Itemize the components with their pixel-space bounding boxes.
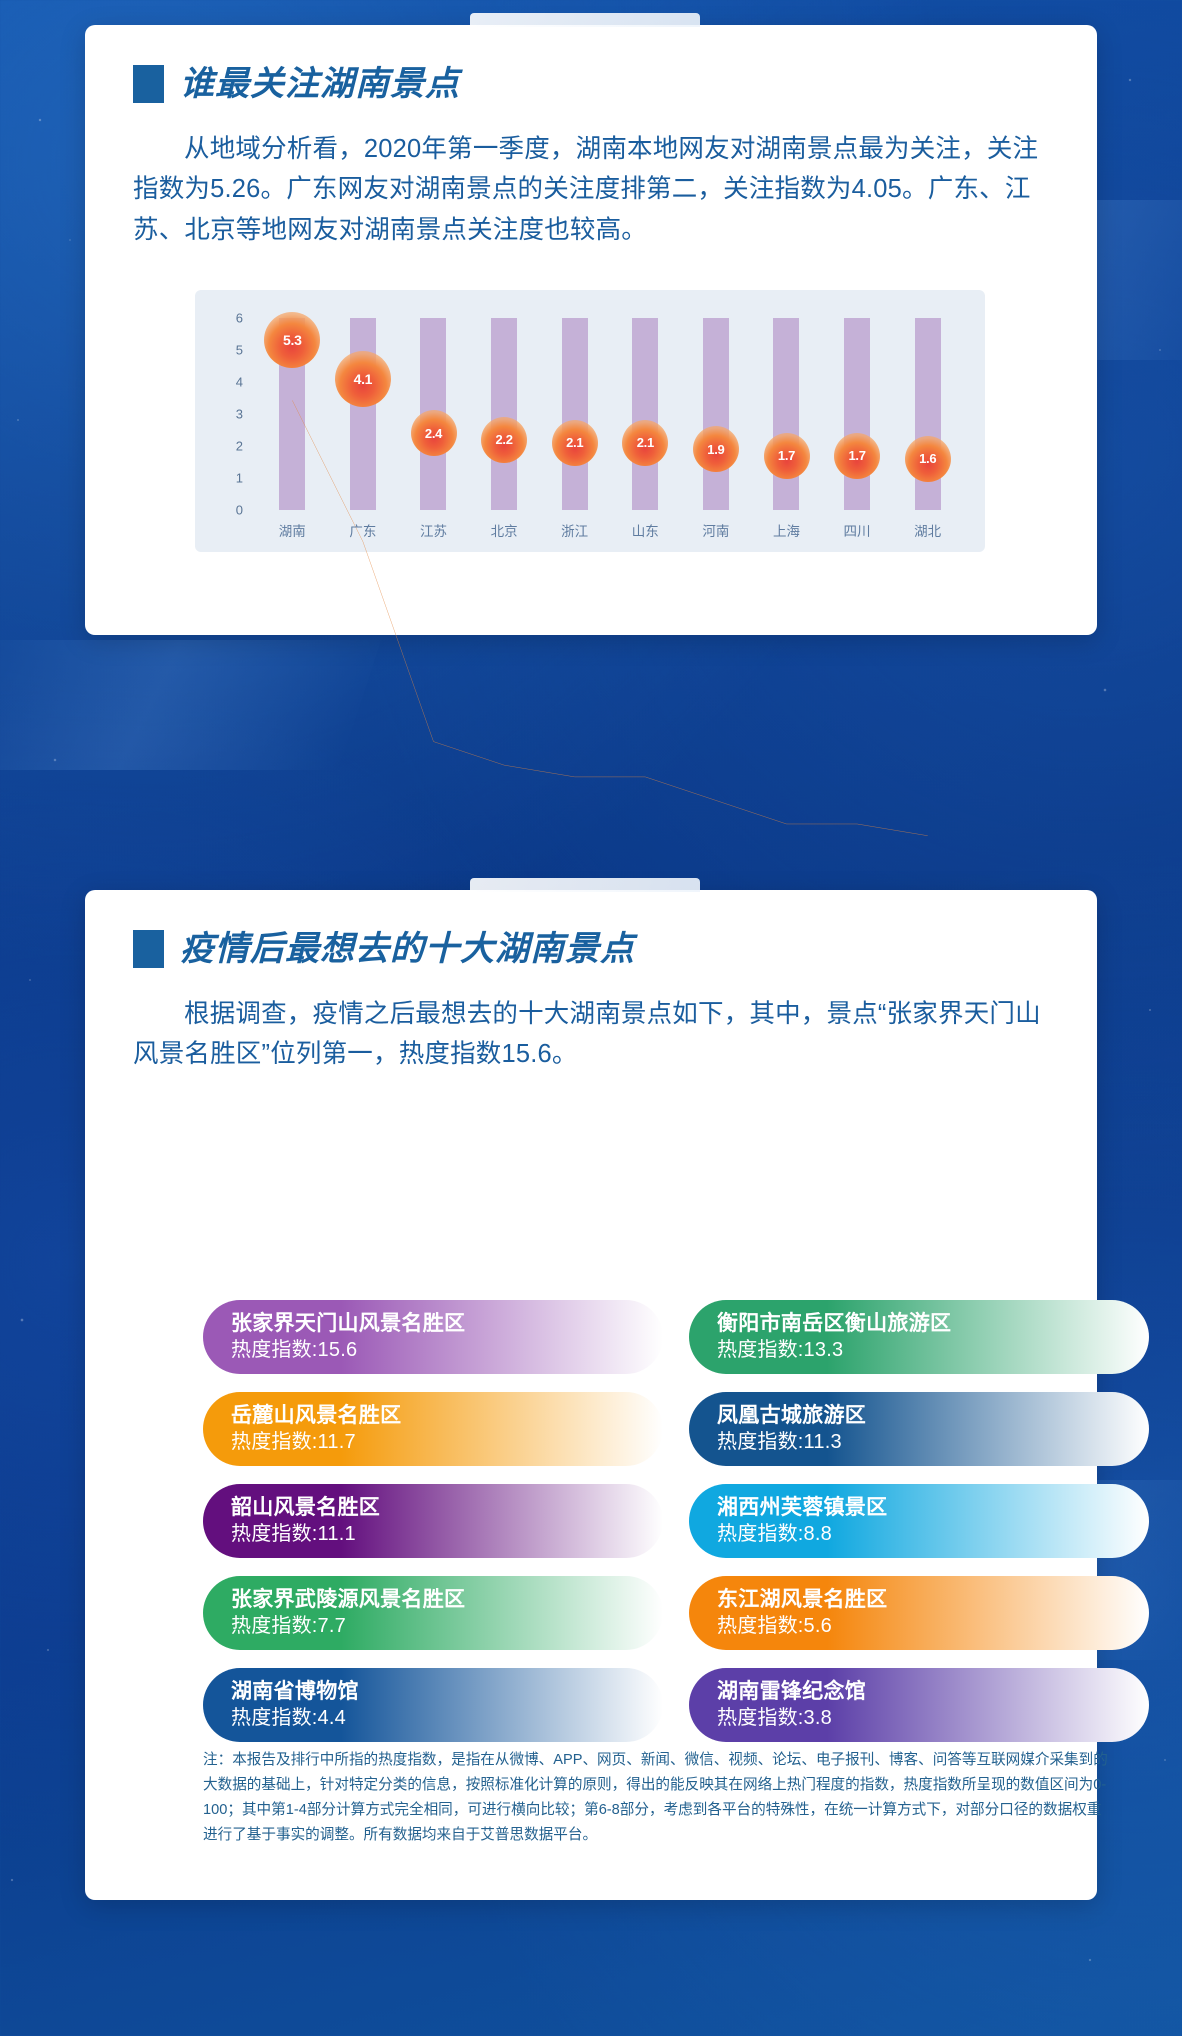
attraction-name: 岳麓山风景名胜区 [231,1403,663,1429]
attraction-name: 东江湖风景名胜区 [717,1587,1149,1613]
attraction-heat-index: 热度指数:11.3 [717,1429,1149,1456]
attraction-name: 湖南雷锋纪念馆 [717,1679,1149,1705]
section2-header: 疫情后最想去的十大湖南景点 [133,930,1097,968]
attraction-card[interactable]: 张家界天门山风景名胜区热度指数:15.6 [203,1300,663,1374]
attraction-card[interactable]: 湖南雷锋纪念馆热度指数:3.8 [689,1668,1149,1742]
attraction-name: 湖南省博物馆 [231,1679,663,1705]
chart-x-tick: 湖南 [257,520,328,540]
attraction-card[interactable]: 张家界武陵源风景名胜区热度指数:7.7 [203,1576,663,1650]
section-marker-square-icon [133,65,164,103]
attraction-name: 衡阳市南岳区衡山旅游区 [717,1311,1149,1337]
chart-x-tick: 广东 [328,520,399,540]
chart-y-tick: 6 [236,311,243,326]
section-marker-square-icon-2 [133,930,164,968]
attraction-card-list: 张家界天门山风景名胜区热度指数:15.6衡阳市南岳区衡山旅游区热度指数:13.3… [203,1300,1149,1742]
attraction-card[interactable]: 岳麓山风景名胜区热度指数:11.7 [203,1392,663,1466]
section2-body-text: 根据调查，疫情之后最想去的十大湖南景点如下，其中，景点“张家界天门山风景名胜区”… [133,994,1045,1075]
attraction-card[interactable]: 湖南省博物馆热度指数:4.4 [203,1668,663,1742]
card-notch-top-2 [470,878,700,892]
chart-y-axis-labels: 6543210 [195,318,253,510]
section1-header: 谁最关注湖南景点 [133,65,1097,103]
section-who-cares-about-hunan-attractions: 谁最关注湖南景点 从地域分析看，2020年第一季度，湖南本地网友对湖南景点最为关… [85,25,1097,635]
attraction-card[interactable]: 韶山风景名胜区热度指数:11.1 [203,1484,663,1558]
attraction-heat-index: 热度指数:3.8 [717,1705,1149,1732]
section1-body-text: 从地域分析看，2020年第一季度，湖南本地网友对湖南景点最为关注，关注指数为5.… [133,129,1045,250]
attraction-heat-index: 热度指数:8.8 [717,1521,1149,1548]
chart-x-tick: 四川 [822,520,893,540]
attraction-heat-index: 热度指数:11.7 [231,1429,663,1456]
chart-trend-line [292,400,927,835]
attraction-heat-index: 热度指数:5.6 [717,1613,1149,1640]
chart-x-tick: 北京 [469,520,540,540]
chart-y-tick: 1 [236,471,243,486]
attraction-card[interactable]: 湘西州芙蓉镇景区热度指数:8.8 [689,1484,1149,1558]
chart-y-tick: 5 [236,343,243,358]
attraction-name: 湘西州芙蓉镇景区 [717,1495,1149,1521]
section1-title: 谁最关注湖南景点 [180,67,460,101]
attraction-name: 凤凰古城旅游区 [717,1403,1149,1429]
chart-x-tick: 山东 [610,520,681,540]
chart-y-tick: 2 [236,439,243,454]
attraction-name: 张家界天门山风景名胜区 [231,1311,663,1337]
attraction-heat-index: 热度指数:15.6 [231,1337,663,1364]
attention-index-chart: 6543210 5.34.12.42.22.12.11.91.71.71.6 湖… [195,290,985,552]
chart-x-tick: 上海 [751,520,822,540]
section-top-ten-hunan-attractions: 疫情后最想去的十大湖南景点 根据调查，疫情之后最想去的十大湖南景点如下，其中，景… [85,890,1097,1900]
card-notch-top [470,13,700,27]
chart-y-tick: 4 [236,375,243,390]
footnote-text: 注：本报告及排行中所指的热度指数，是指在从微博、APP、网页、新闻、微信、视频、… [203,1748,1115,1848]
chart-x-axis-labels: 湖南广东江苏北京浙江山东河南上海四川湖北 [257,520,963,540]
chart-x-tick: 江苏 [398,520,469,540]
attraction-card[interactable]: 东江湖风景名胜区热度指数:5.6 [689,1576,1149,1650]
attraction-card[interactable]: 衡阳市南岳区衡山旅游区热度指数:13.3 [689,1300,1149,1374]
attraction-name: 韶山风景名胜区 [231,1495,663,1521]
chart-x-tick: 浙江 [539,520,610,540]
chart-y-tick: 0 [236,503,243,518]
section2-title: 疫情后最想去的十大湖南景点 [180,932,635,966]
attraction-name: 张家界武陵源风景名胜区 [231,1587,663,1613]
attraction-heat-index: 热度指数:13.3 [717,1337,1149,1364]
attraction-heat-index: 热度指数:7.7 [231,1613,663,1640]
attraction-card[interactable]: 凤凰古城旅游区热度指数:11.3 [689,1392,1149,1466]
attraction-heat-index: 热度指数:4.4 [231,1705,663,1732]
chart-y-tick: 3 [236,407,243,422]
attraction-heat-index: 热度指数:11.1 [231,1521,663,1548]
chart-x-tick: 河南 [681,520,752,540]
chart-x-tick: 湖北 [892,520,963,540]
